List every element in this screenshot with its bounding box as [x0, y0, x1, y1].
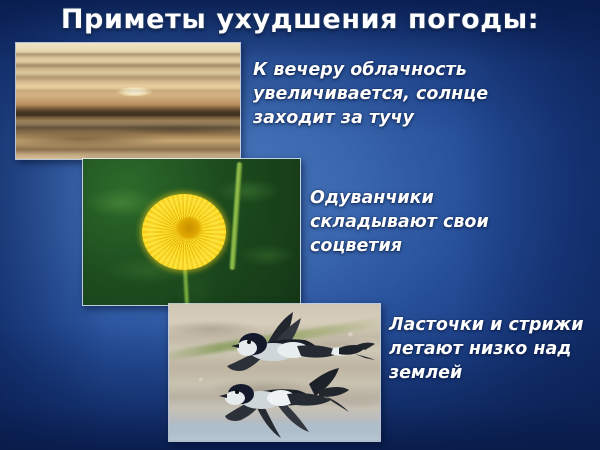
photo-sunset[interactable] — [15, 42, 241, 160]
sunset-water — [16, 116, 240, 159]
swallows-birds — [169, 304, 380, 441]
caption-swallows: Ласточки и стрижи летают низко над земле… — [389, 313, 600, 385]
caption-clouds: К вечеру облачность увеличивается, солнц… — [253, 58, 503, 130]
photo-swallows[interactable] — [168, 303, 381, 442]
caption-dandelion: Одуванчики складывают свои соцветия — [310, 186, 550, 258]
presentation-slide: Приметы ухудшения погоды: — [0, 0, 600, 450]
swallow-lower — [219, 368, 349, 438]
swallow-upper — [227, 312, 375, 371]
photo-dandelion[interactable] — [82, 158, 301, 306]
slide-title: Приметы ухудшения погоды: — [0, 4, 600, 35]
